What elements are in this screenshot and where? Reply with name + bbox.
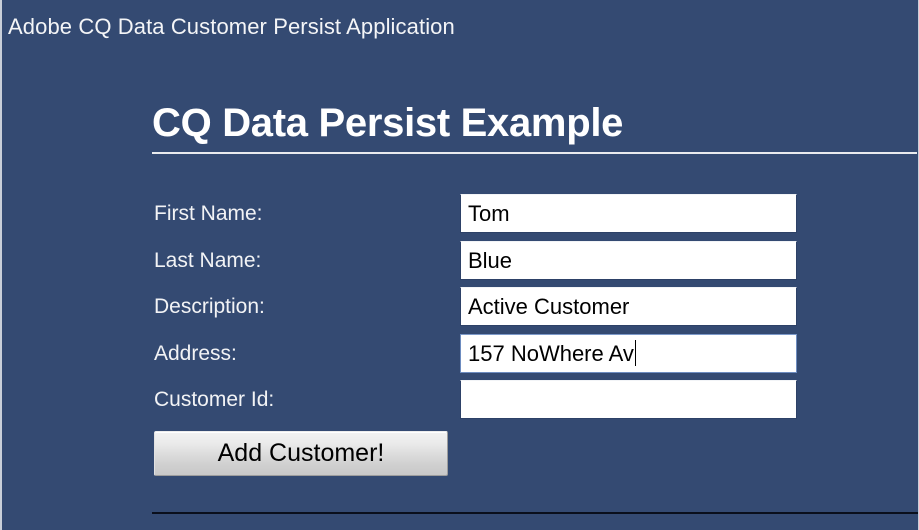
last-name-input[interactable]: Blue [460,241,797,280]
app-title: Adobe CQ Data Customer Persist Applicati… [8,14,455,40]
address-label: Address: [154,341,237,366]
address-input-value: 157 NoWhere Av [468,341,634,366]
page-container: Adobe CQ Data Customer Persist Applicati… [0,0,919,530]
first-name-label: First Name: [154,201,263,226]
description-label: Description: [154,294,265,319]
description-input[interactable]: Active Customer [460,287,797,326]
customer-form: First Name: Tom Last Name: Blue Descript… [152,192,800,481]
form-row: Address: 157 NoWhere Av [152,332,800,379]
customer-id-input[interactable] [460,380,797,419]
text-caret [635,340,636,366]
form-row: Last Name: Blue [152,239,800,286]
divider-bottom [152,512,919,514]
form-row: Customer Id: [152,378,800,425]
customer-id-label: Customer Id: [154,387,274,412]
form-row: Description: Active Customer [152,285,800,332]
last-name-label: Last Name: [154,248,261,273]
add-customer-button[interactable]: Add Customer! [154,431,448,476]
divider-top [152,152,917,154]
address-input[interactable]: 157 NoWhere Av [460,334,797,373]
form-row: Add Customer! [152,425,800,481]
page-title: CQ Data Persist Example [152,100,623,146]
form-row: First Name: Tom [152,192,800,239]
first-name-input[interactable]: Tom [460,194,797,233]
